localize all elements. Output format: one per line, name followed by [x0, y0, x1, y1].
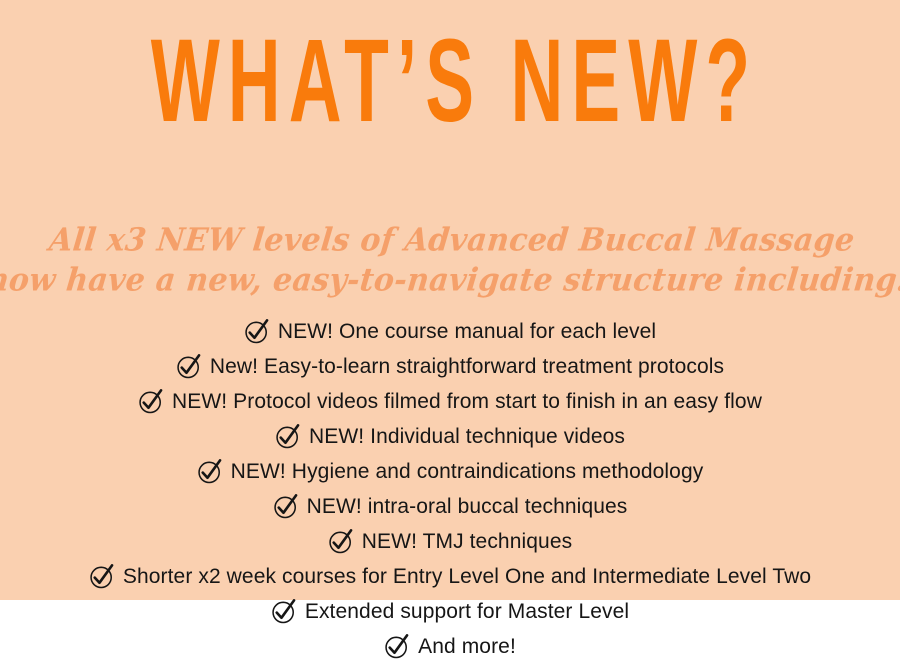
- checklist-item: New! Easy-to-learn straightforward treat…: [176, 349, 724, 384]
- checklist-item-label: NEW! Hygiene and contraindications metho…: [231, 461, 704, 482]
- checklist-item-label: NEW! TMJ techniques: [362, 531, 572, 552]
- subtitle: All x3 NEW levels of Advanced Buccal Mas…: [0, 221, 900, 302]
- checklist-item-label: And more!: [418, 636, 516, 657]
- checklist-item: Extended support for Master Level: [271, 594, 629, 629]
- check-circle-icon: [384, 633, 411, 660]
- check-circle-icon: [275, 423, 302, 450]
- check-circle-icon: [328, 528, 355, 555]
- checklist-item: NEW! Individual technique videos: [275, 419, 625, 454]
- check-circle-icon: [273, 493, 300, 520]
- check-circle-icon: [271, 598, 298, 625]
- checklist-item: NEW! TMJ techniques: [328, 524, 572, 559]
- checklist-item-label: NEW! intra-oral buccal techniques: [307, 496, 628, 517]
- checklist-item-label: NEW! One course manual for each level: [278, 321, 656, 342]
- checklist-item: And more!: [384, 629, 516, 664]
- page-title: WHAT’S NEW?: [142, 22, 758, 140]
- checklist-item: NEW! One course manual for each level: [244, 314, 656, 349]
- checklist-item-label: Shorter x2 week courses for Entry Level …: [123, 566, 811, 587]
- poster-canvas: WHAT’S NEW? All x3 NEW levels of Advance…: [0, 0, 900, 600]
- feature-checklist: NEW! One course manual for each levelNew…: [0, 314, 900, 664]
- check-circle-icon: [89, 563, 116, 590]
- subtitle-line-1: All x3 NEW levels of Advanced Buccal Mas…: [0, 221, 900, 262]
- checklist-item-label: Extended support for Master Level: [305, 601, 629, 622]
- subtitle-line-2: now have a new, easy-to-navigate structu…: [0, 261, 900, 302]
- check-circle-icon: [176, 353, 203, 380]
- check-circle-icon: [197, 458, 224, 485]
- checklist-item: NEW! Protocol videos filmed from start t…: [138, 384, 762, 419]
- checklist-item: NEW! Hygiene and contraindications metho…: [197, 454, 704, 489]
- checklist-item: Shorter x2 week courses for Entry Level …: [89, 559, 811, 594]
- check-circle-icon: [244, 318, 271, 345]
- check-circle-icon: [138, 388, 165, 415]
- checklist-item-label: New! Easy-to-learn straightforward treat…: [210, 356, 724, 377]
- checklist-item-label: NEW! Protocol videos filmed from start t…: [172, 391, 762, 412]
- checklist-item-label: NEW! Individual technique videos: [309, 426, 625, 447]
- checklist-item: NEW! intra-oral buccal techniques: [273, 489, 628, 524]
